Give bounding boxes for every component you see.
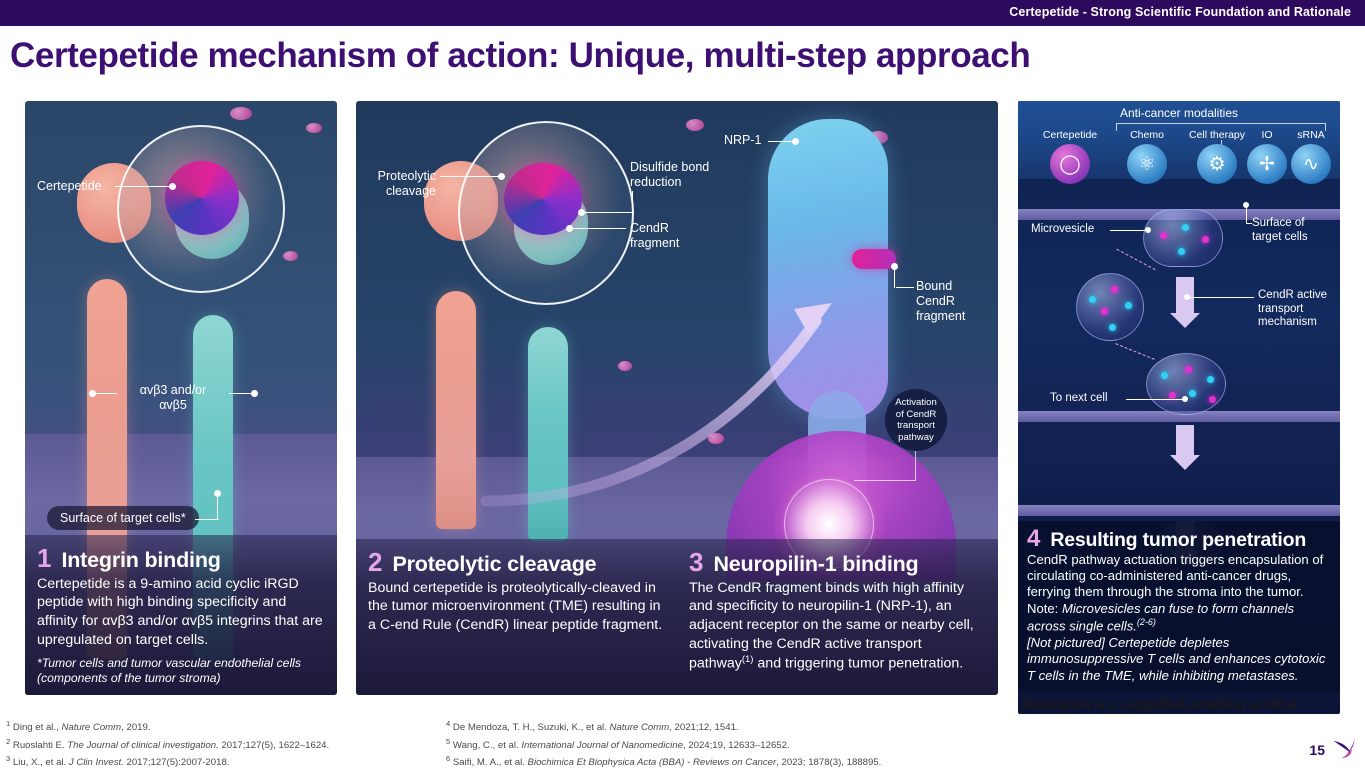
modality-label: Chemo [1114,129,1180,141]
label-integrins: αvβ3 and/or αvβ5 [117,383,229,413]
references-left-column: 1 Ding et al., Nature Comm, 2019.2 Ruosl… [6,718,446,768]
leader-dot [1145,227,1151,233]
reference-journal: The Journal of clinical investigation. [67,740,218,751]
modality-label: sRNA [1286,129,1336,141]
step-title: Resulting tumor penetration [1050,530,1306,550]
cendr-transport-arrow [1170,277,1200,328]
caption-heading: 1 Integrin binding [37,545,325,572]
leader-line [632,191,633,213]
cell-gear-icon: ⚙ [1197,144,1237,184]
caption-heading: 4 Resulting tumor penetration [1027,527,1331,551]
cell-membrane-next [1018,505,1340,516]
cargo-dot [1161,372,1168,379]
leader-line [195,519,219,520]
panel-step-2-and-3: Activation of CendR transport pathway Pr… [356,101,998,695]
caption-step-1: 1 Integrin binding Certepetide is a 9-am… [25,535,337,695]
leader-line [1246,206,1247,224]
leader-dot [214,490,221,497]
background-speck [230,107,252,120]
reference-journal: Biochimica Et Biophysica Acta (BBA) - Re… [528,758,777,768]
cargo-dot [1185,366,1192,373]
step-number: 2 [368,549,382,575]
step-body-text: CendR pathway actuation triggers encapsu… [1027,552,1331,601]
leader-dot [1182,396,1188,402]
leader-line [115,186,173,187]
leader-dot [891,263,898,270]
reference-journal: Nature Comm [610,722,670,733]
reference-entry: 4 De Mendoza, T. H., Suzuki, K., et al. … [446,718,1006,736]
reference-citation-detail: , 2024;19, 12633–12652. [683,740,790,751]
leader-line [1110,230,1148,231]
caption-step-2: 2 Proteolytic cleavage Bound certepetide… [356,539,677,695]
badge-activation-of-cendr: Activation of CendR transport pathway [885,389,947,451]
step-note-text: Note: Microvesicles can fuse to form cha… [1027,601,1331,635]
label-cendr-fragment: CendR fragment [630,221,679,251]
cargo-dot [1202,236,1209,243]
reference-authors: De Mendoza, T. H., Suzuki, K., et al. [450,722,609,733]
reference-entry: 1 Ding et al., Nature Comm, 2019. [6,718,446,736]
label-nrp1: NRP-1 [724,133,762,148]
integrin-avb3-protein [436,291,476,529]
label-certepetide: Certepetide [37,179,102,194]
cargo-dot [1109,324,1116,331]
cargo-dot [1160,232,1167,239]
modalities-heading: Anti-cancer modalities [1018,106,1340,120]
note-italic-text: Microvesicles can fuse to form channels … [1027,601,1294,634]
note-prefix: Note: [1027,601,1062,616]
leader-line [896,287,914,288]
slide-root: Certepetide - Strong Scientific Foundati… [0,0,1365,768]
leader-line [1190,297,1254,298]
cargo-dot [1178,248,1185,255]
caption-heading: 3 Neuropilin-1 binding [689,549,986,576]
reference-authors: Ruoslahti E. [10,740,67,751]
illustration-simplification-note: Illustration is a simplified rendition o… [1022,697,1297,712]
background-speck [306,123,322,133]
leader-dot [578,209,585,216]
reference-authors: Wang, C., et al. [450,740,521,751]
modality-label: Certepetide [1032,129,1108,141]
step-body-text: The CendR fragment binds with high affin… [689,579,986,674]
step-footnote-text: *Tumor cells and tumor vascular endothel… [37,656,325,687]
reference-entry: 2 Ruoslahti E. The Journal of clinical i… [6,736,446,754]
leader-dot [498,173,505,180]
header-band-text: Certepetide - Strong Scientific Foundati… [1009,5,1351,19]
cargo-dot [1101,308,1108,315]
leader-dot [89,390,96,397]
reference-citation-detail: 2017;127(5):2007-2018. [124,758,230,768]
reference-entry: 5 Wang, C., et al. International Journal… [446,736,1006,754]
leader-dot [251,390,258,397]
leader-line [572,228,626,229]
reference-citation-detail: , 2019. [121,722,150,733]
step-number: 1 [37,545,51,571]
caption-heading: 2 Proteolytic cleavage [368,549,665,576]
microvesicle-exiting [1146,353,1226,415]
caption-step-4: 4 Resulting tumor penetration CendR path… [1018,521,1340,692]
leader-dot [1184,294,1190,300]
reference-citation-detail: , 2023; 1878(3), 188895. [776,758,881,768]
rna-helix-icon: ∿ [1291,144,1331,184]
step-number: 3 [689,549,703,575]
cargo-dot [1169,392,1176,399]
reference-entry: 3 Liu, X., et al. J Clin Invest. 2017;12… [6,753,446,768]
page-number: 15 [1309,742,1325,758]
step-body-part2: and triggering tumor penetration. [753,656,963,672]
leader-line [915,451,916,481]
label-disulfide-bond-reduction: Disulfide bond reduction [630,160,709,190]
reference-entry: 6 Saifi, M. A., et al. Biochimica Et Bio… [446,753,1006,768]
step-body-text: Certepetide is a 9-amino acid cyclic iRG… [37,575,325,651]
step-title: Integrin binding [61,549,220,572]
header-band: Certepetide - Strong Scientific Foundati… [0,0,1365,26]
note-superscript: (2-6) [1137,617,1156,627]
label-cendr-active-transport: CendR active transport mechanism [1258,289,1327,330]
leader-dot [792,138,799,145]
step-title: Neuropilin-1 binding [713,553,918,576]
background-speck [686,119,704,131]
leader-line [894,267,895,288]
leader-line [1246,223,1252,224]
reference-journal: International Journal of Nanomedicine [521,740,683,751]
leader-line [1126,399,1184,400]
badge-activation-label: Activation of CendR transport pathway [895,397,937,443]
chemo-molecule-icon: ⚛ [1127,144,1167,184]
leader-line [229,393,253,394]
label-microvesicle: Microvesicle [1031,223,1094,237]
page-title: Certepetide mechanism of action: Unique,… [10,36,1030,76]
reference-journal: J Clin Invest. [69,758,124,768]
transport-arrow-down [1170,425,1200,470]
leader-line [440,176,502,177]
label-proteolytic-cleavage: Proteolytic cleavage [358,169,436,199]
leader-line [854,480,916,481]
reference-citation-detail: , 2021;12, 1541. [669,722,738,733]
modality-certepetide: Certepetide ◯ [1032,129,1108,184]
leader-dot [169,183,176,190]
bird-leaf-logo [1331,736,1357,762]
cargo-dot [1111,286,1118,293]
background-speck [283,251,298,261]
leader-line [95,393,117,394]
modality-chemo: Chemo ⚛ [1114,129,1180,184]
panel-step-4: Anti-cancer modalities Certepetide ◯ Che… [1018,101,1340,714]
reference-citation-detail: 2017;127(5), 1622–1624. [219,740,329,751]
caption-step-3: 3 Neuropilin-1 binding The CendR fragmen… [677,539,998,695]
panel-step-1: Certepetide αvβ3 and/or αvβ5 Surface of … [25,101,337,695]
certepetide-ring-icon: ◯ [1050,144,1090,184]
cargo-dot [1189,390,1196,397]
cargo-dot [1089,296,1096,303]
references-right-column: 4 De Mendoza, T. H., Suzuki, K., et al. … [446,718,1006,768]
cargo-dot [1207,376,1214,383]
leader-dot [566,225,573,232]
leader-line [584,212,634,213]
cargo-dot [1209,396,1216,403]
dashed-arrow-out [1115,343,1154,360]
leader-dot [1243,202,1249,208]
reference-authors: Ding et al., [10,722,61,733]
reference-authors: Saifi, M. A., et al. [450,758,527,768]
label-bound-cendr-fragment: Bound CendR fragment [916,279,965,323]
label-surface-of-target-cells: Surface of target cells* [47,506,199,530]
reference-authors: Liu, X., et al. [10,758,69,768]
step-body-superscript: (1) [742,654,754,665]
modality-srna: sRNA ∿ [1286,129,1336,184]
step-not-pictured-text: [Not pictured] Certepetide depletes immu… [1027,635,1331,684]
cyclic-irgd-peptide [165,161,239,235]
step-title: Proteolytic cleavage [392,553,596,576]
microvesicle-budding [1143,209,1223,267]
label-to-next-cell: To next cell [1050,392,1108,406]
cargo-dot [1182,224,1189,231]
step-number: 4 [1027,527,1040,551]
cargo-dot [1125,302,1132,309]
step-body-text: Bound certepetide is proteolytically-cle… [368,579,665,636]
label-surface-of-target-cells: Surface of target cells [1252,217,1308,244]
microvesicle-internal [1076,273,1144,341]
antibody-icon: ✢ [1247,144,1287,184]
leader-line [217,494,218,520]
reference-journal: Nature Comm [61,722,121,733]
